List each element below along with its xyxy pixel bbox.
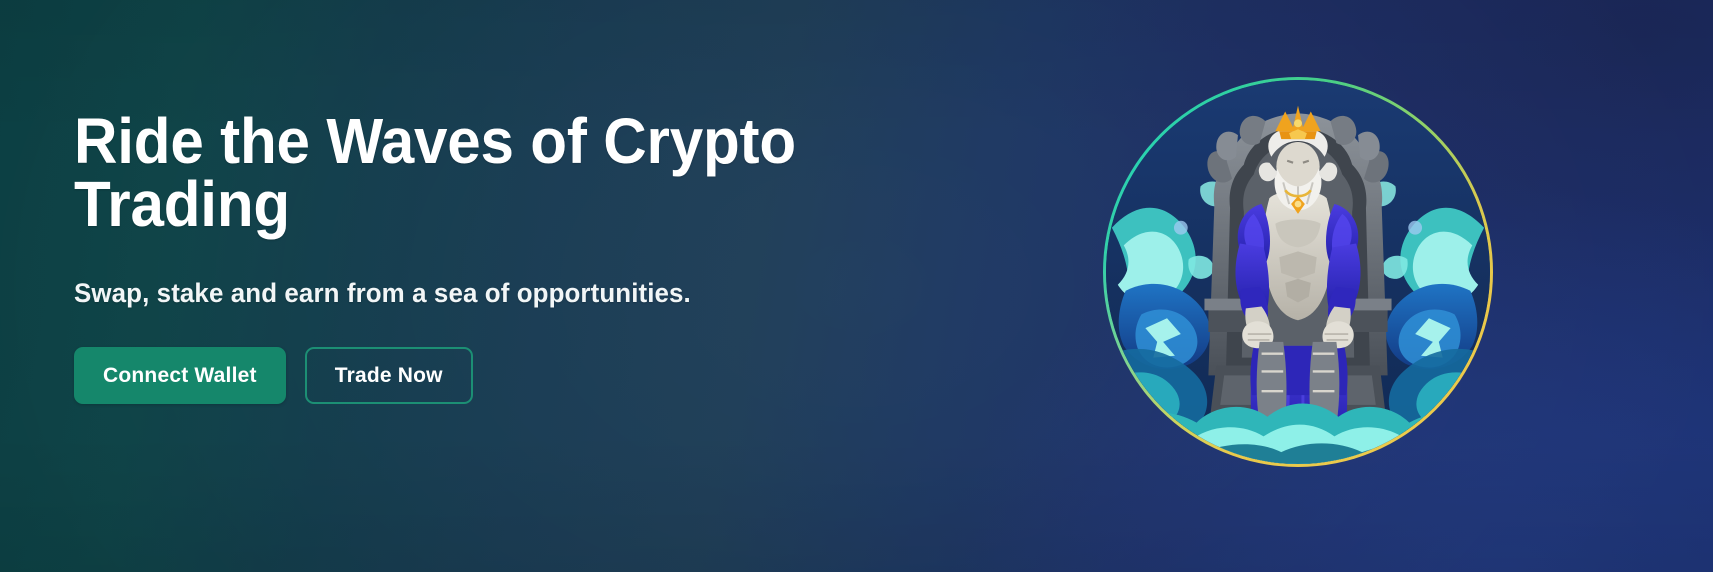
wave-foreground — [1106, 403, 1490, 464]
hero-button-row: Connect Wallet Trade Now — [74, 347, 934, 404]
hero-subtitle: Swap, stake and earn from a sea of oppor… — [74, 278, 900, 309]
hero-artwork — [1103, 77, 1493, 467]
poseidon-on-throne-illustration — [1106, 80, 1490, 464]
hero-banner: Ride the Waves of Crypto Trading Swap, s… — [0, 0, 1713, 572]
page-title: Ride the Waves of Crypto Trading — [74, 110, 882, 236]
trade-now-button[interactable]: Trade Now — [305, 347, 473, 404]
connect-wallet-button[interactable]: Connect Wallet — [74, 347, 286, 404]
artwork-gradient-ring — [1103, 77, 1493, 467]
hero-copy-block: Ride the Waves of Crypto Trading Swap, s… — [74, 110, 934, 404]
artwork-clip-circle — [1106, 80, 1490, 464]
